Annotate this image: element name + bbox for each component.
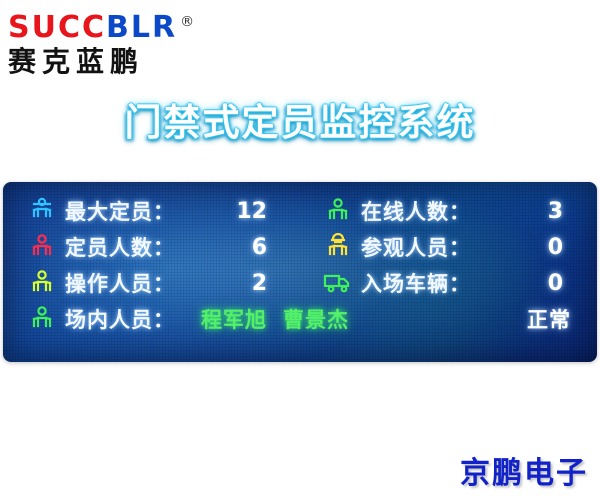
led-label: 在线人数： [361, 196, 471, 226]
led-value: 2 [175, 271, 299, 296]
truck-icon [321, 268, 355, 298]
onsite-name: 程军旭 [201, 304, 267, 334]
led-row: 最大定员： 12 在线人数： 3 [3, 193, 597, 229]
led-label: 最大定员： [65, 196, 175, 226]
led-label: 定员人数： [65, 232, 175, 262]
onsite-names-list: 程军旭 曹景杰 [175, 304, 527, 334]
footer-brand-text: 京鹏电子 [460, 448, 588, 492]
person-cap-icon [25, 196, 59, 226]
logo-succ-text: SUCC [8, 10, 106, 45]
person-helmet-icon [321, 232, 355, 262]
logo-latin-text: SUCCBLR® [8, 6, 268, 44]
person-green-icon [321, 196, 355, 226]
led-row: 操作人员： 2 入场车辆： 0 [3, 265, 597, 301]
led-label: 参观人员： [361, 232, 471, 262]
page-title: 门禁式定员监控系统 [0, 92, 600, 146]
led-cell-registered-count: 定员人数： 6 [3, 229, 299, 265]
logo-blr-text: BLR [106, 10, 177, 45]
registered-trademark-icon: ® [180, 14, 194, 30]
led-value: 12 [175, 199, 299, 224]
led-cell-visitor-count: 参观人员： 0 [299, 229, 589, 265]
onsite-name: 曹景杰 [283, 304, 349, 334]
person-red-icon [25, 232, 59, 262]
person-yellow-icon [25, 268, 59, 298]
led-cell-operator-count: 操作人员： 2 [3, 265, 299, 301]
led-cell-online-count: 在线人数： 3 [299, 193, 589, 229]
led-label: 入场车辆： [361, 268, 471, 298]
led-row: 定员人数： 6 [3, 229, 597, 265]
led-value: 6 [175, 235, 299, 260]
status-badge: 正常 [527, 304, 597, 334]
led-value: 0 [471, 271, 589, 296]
led-value: 3 [471, 199, 589, 224]
person-green2-icon [25, 304, 59, 334]
led-rows-container: 最大定员： 12 在线人数： 3 [3, 182, 597, 362]
led-cell-max-capacity: 最大定员： 12 [3, 193, 299, 229]
led-label: 操作人员： [65, 268, 175, 298]
led-cell-vehicle-count: 入场车辆： 0 [299, 265, 589, 301]
led-display-panel: 最大定员： 12 在线人数： 3 [3, 182, 597, 362]
logo-chinese-text: 赛克蓝鹏 [8, 45, 268, 79]
company-logo: SUCCBLR® 赛克蓝鹏 [8, 6, 268, 78]
led-label: 场内人员： [65, 304, 175, 334]
led-value: 0 [471, 235, 589, 260]
led-row-onsite-personnel: 场内人员： 程军旭 曹景杰 正常 [3, 301, 597, 337]
